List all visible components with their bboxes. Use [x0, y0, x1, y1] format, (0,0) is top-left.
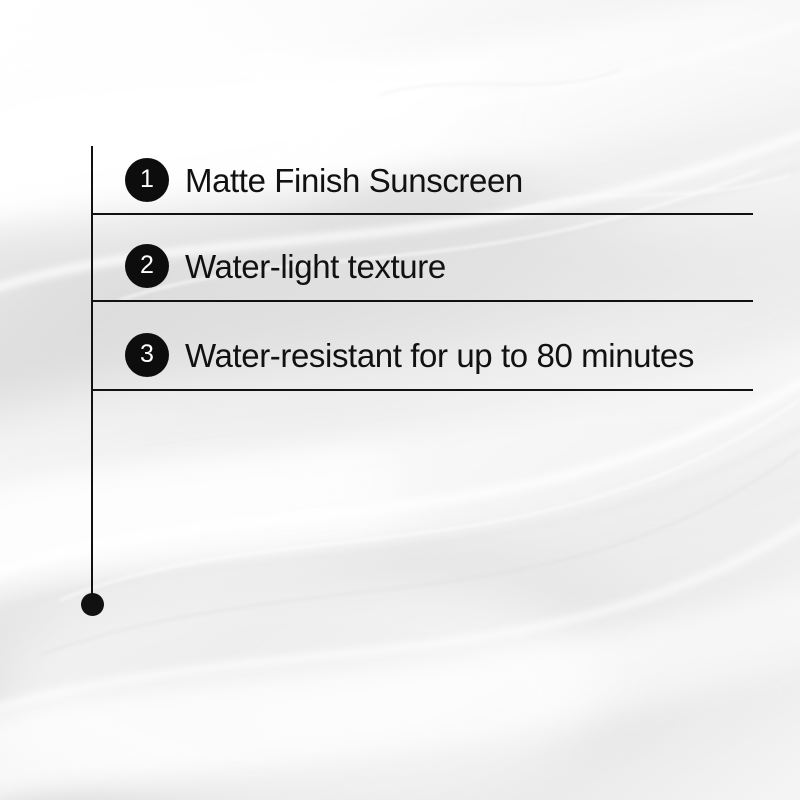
feature-number-badge: 1 [125, 158, 169, 202]
feature-label: Water-resistant for up to 80 minutes [185, 339, 694, 372]
feature-label: Matte Finish Sunscreen [185, 164, 523, 197]
feature-list-panel: 1 Matte Finish Sunscreen 2 Water-light t… [0, 0, 800, 800]
feature-row: 1 Matte Finish Sunscreen [92, 156, 772, 204]
feature-number-badge: 2 [125, 244, 169, 288]
feature-row: 2 Water-light texture [92, 242, 772, 290]
feature-number-badge: 3 [125, 333, 169, 377]
feature-row: 3 Water-resistant for up to 80 minutes [92, 331, 772, 379]
feature-label: Water-light texture [185, 250, 446, 283]
spine-end-dot [81, 593, 104, 616]
divider-line-3 [92, 389, 753, 391]
divider-line-1 [92, 213, 753, 215]
divider-line-2 [92, 300, 753, 302]
